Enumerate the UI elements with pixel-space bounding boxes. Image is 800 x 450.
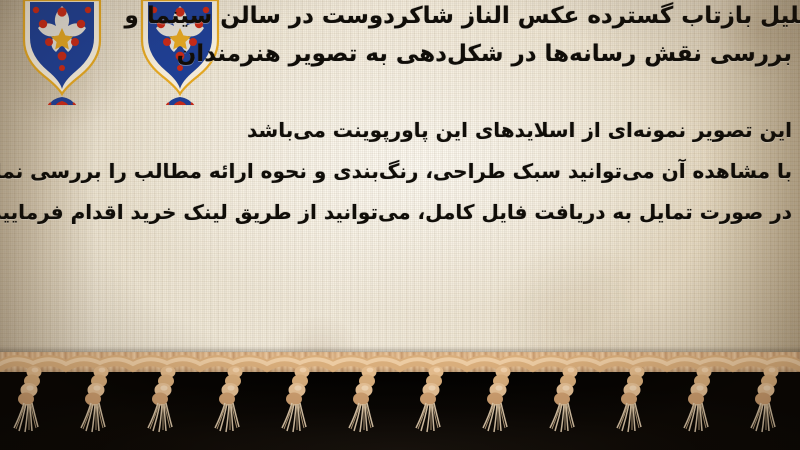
slide-body-line-1: این تصویر نمونه‌ای از اسلایدهای این پاور…: [247, 117, 792, 143]
slide-text-block: حلیل بازتاب گسترده عکس الناز شاکردوست در…: [0, 0, 800, 372]
presentation-slide: حلیل بازتاب گسترده عکس الناز شاکردوست در…: [0, 0, 800, 450]
slide-body-line-2: با مشاهده آن می‌توانید سبک طراحی، رنگ‌بن…: [0, 158, 792, 184]
carpet-selvedge-edge: [0, 352, 800, 372]
slide-title-line-2: بررسی نقش رسانه‌ها در شکل‌دهی به تصویر ه…: [177, 40, 792, 68]
slide-body-line-3: در صورت تمایل به دریافت فایل کامل، می‌تو…: [0, 199, 792, 225]
slide-title-line-1: حلیل بازتاب گسترده عکس الناز شاکردوست در…: [125, 2, 800, 30]
